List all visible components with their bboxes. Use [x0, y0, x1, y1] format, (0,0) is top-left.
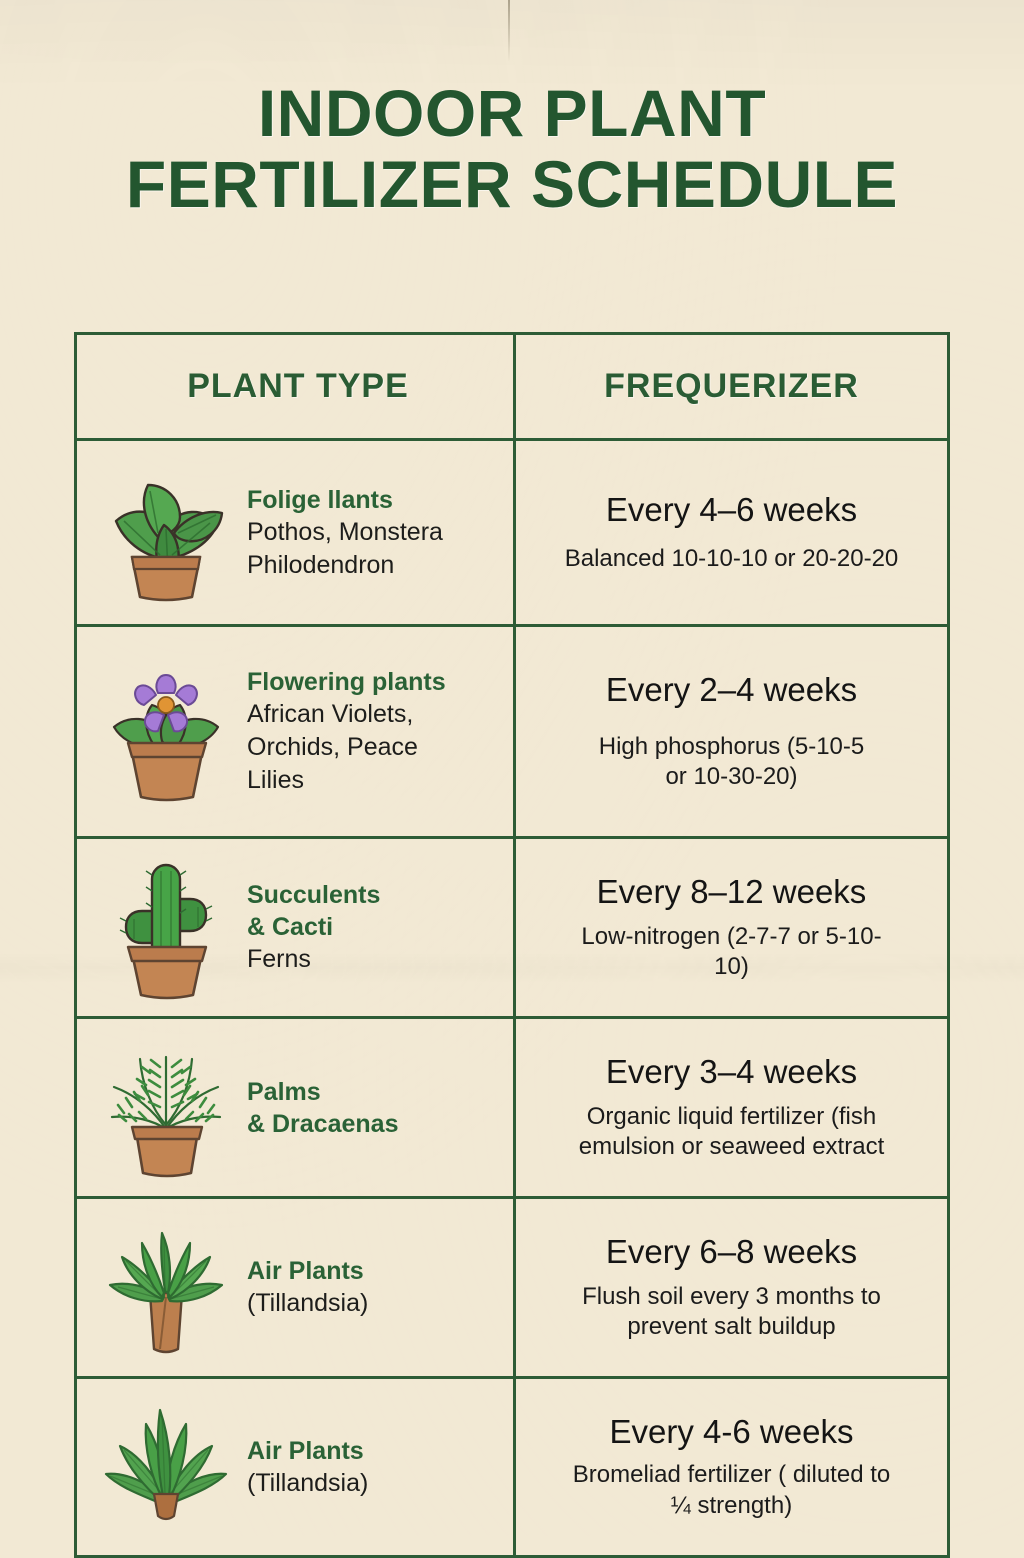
- plant-name: Flowering plants: [247, 666, 446, 698]
- air-plant-trunk-icon: [91, 1213, 241, 1363]
- paper-fold-seam: [508, 0, 510, 62]
- plant-type-cell: Flowering plants African Violets, Orchid…: [77, 627, 516, 836]
- fertilizer-frequency: Every 8–12 weeks: [597, 872, 867, 912]
- fertilizer-detail: Flush soil every 3 months to prevent sal…: [582, 1282, 881, 1343]
- fertilizer-cell: Every 8–12 weeks Low-nitrogen (2-7-7 or …: [516, 839, 947, 1016]
- plant-type-cell: Air Plants (Tillandsia): [77, 1379, 516, 1555]
- plant-type-cell: Succulents & Cacti Ferns: [77, 839, 516, 1016]
- table-row: Flowering plants African Violets, Orchid…: [77, 627, 947, 839]
- potted-cactus-icon: [91, 853, 241, 1003]
- plant-labels: Folige llants Pothos, Monstera Philodend…: [241, 484, 443, 582]
- header-cell-plant-type: PLANT TYPE: [77, 335, 516, 438]
- plant-examples: (Tillandsia): [247, 1287, 368, 1320]
- potted-palm-icon: [91, 1033, 241, 1183]
- plant-labels: Air Plants (Tillandsia): [241, 1435, 368, 1500]
- header-cell-fertilizer: FREQUERIZER: [516, 335, 947, 438]
- plant-labels: Air Plants (Tillandsia): [241, 1255, 368, 1320]
- table-row: Folige llants Pothos, Monstera Philodend…: [77, 441, 947, 627]
- table-row: Succulents & Cacti Ferns Every 8–12 week…: [77, 839, 947, 1019]
- table-row: Air Plants (Tillandsia) Every 4-6 weeks …: [77, 1379, 947, 1555]
- fertilizer-frequency: Every 6–8 weeks: [606, 1232, 857, 1272]
- header-label-fertilizer: FREQUERIZER: [604, 367, 859, 406]
- fertilizer-detail: Organic liquid fertilizer (fish emulsion…: [579, 1102, 884, 1163]
- fertilizer-frequency: Every 3–4 weeks: [606, 1052, 857, 1092]
- table-row: Air Plants (Tillandsia) Every 6–8 weeks …: [77, 1199, 947, 1379]
- fertilizer-frequency: Every 2–4 weeks: [606, 670, 857, 710]
- potted-foliage-plant-icon: [91, 463, 241, 603]
- fertilizer-schedule-table: PLANT TYPE FREQUERIZER: [74, 332, 950, 1558]
- plant-labels: Palms & Dracaenas: [241, 1076, 398, 1140]
- plant-name: Air Plants: [247, 1435, 368, 1467]
- table-header-row: PLANT TYPE FREQUERIZER: [77, 335, 947, 441]
- fertilizer-frequency: Every 4–6 weeks: [606, 490, 857, 530]
- plant-name: Succulents & Cacti: [247, 879, 380, 943]
- page-title-line-1: INDOOR PLANT: [258, 76, 766, 150]
- plant-name: Folige llants: [247, 484, 443, 516]
- table-row: Palms & Dracaenas Every 3–4 weeks Organi…: [77, 1019, 947, 1199]
- plant-examples: Ferns: [247, 943, 380, 976]
- fertilizer-detail: Bromeliad fertilizer ( diluted to ¼ stre…: [573, 1460, 890, 1521]
- header-label-plant-type: PLANT TYPE: [187, 367, 409, 406]
- fertilizer-cell: Every 4-6 weeks Bromeliad fertilizer ( d…: [516, 1379, 947, 1555]
- fertilizer-cell: Every 2–4 weeks High phosphorus (5-10-5 …: [516, 627, 947, 836]
- plant-name: Air Plants: [247, 1255, 368, 1287]
- plant-examples: (Tillandsia): [247, 1467, 368, 1500]
- plant-labels: Flowering plants African Violets, Orchid…: [241, 666, 446, 797]
- plant-type-cell: Palms & Dracaenas: [77, 1019, 516, 1196]
- plant-type-cell: Folige llants Pothos, Monstera Philodend…: [77, 441, 516, 624]
- plant-name: Palms & Dracaenas: [247, 1076, 398, 1140]
- fertilizer-detail: Low-nitrogen (2-7-7 or 5-10- 10): [581, 922, 881, 983]
- plant-labels: Succulents & Cacti Ferns: [241, 879, 380, 976]
- plant-examples: African Violets, Orchids, Peace Lilies: [247, 698, 446, 797]
- fertilizer-cell: Every 4–6 weeks Balanced 10-10-10 or 20-…: [516, 441, 947, 624]
- air-plant-rosette-icon: [91, 1392, 241, 1542]
- fertilizer-cell: Every 6–8 weeks Flush soil every 3 month…: [516, 1199, 947, 1376]
- potted-flowering-plant-icon: [91, 657, 241, 807]
- fertilizer-frequency: Every 4-6 weeks: [610, 1412, 854, 1452]
- page-title-line-2: FERTILIZER SCHEDULE: [0, 149, 1024, 220]
- fertilizer-detail: Balanced 10-10-10 or 20-20-20: [565, 544, 899, 575]
- plant-type-cell: Air Plants (Tillandsia): [77, 1199, 516, 1376]
- fertilizer-detail: High phosphorus (5-10-5 or 10-30-20): [599, 732, 865, 793]
- plant-examples: Pothos, Monstera Philodendron: [247, 516, 443, 582]
- fertilizer-cell: Every 3–4 weeks Organic liquid fertilize…: [516, 1019, 947, 1196]
- page-title: INDOOR PLANT FERTILIZER SCHEDULE: [0, 78, 1024, 221]
